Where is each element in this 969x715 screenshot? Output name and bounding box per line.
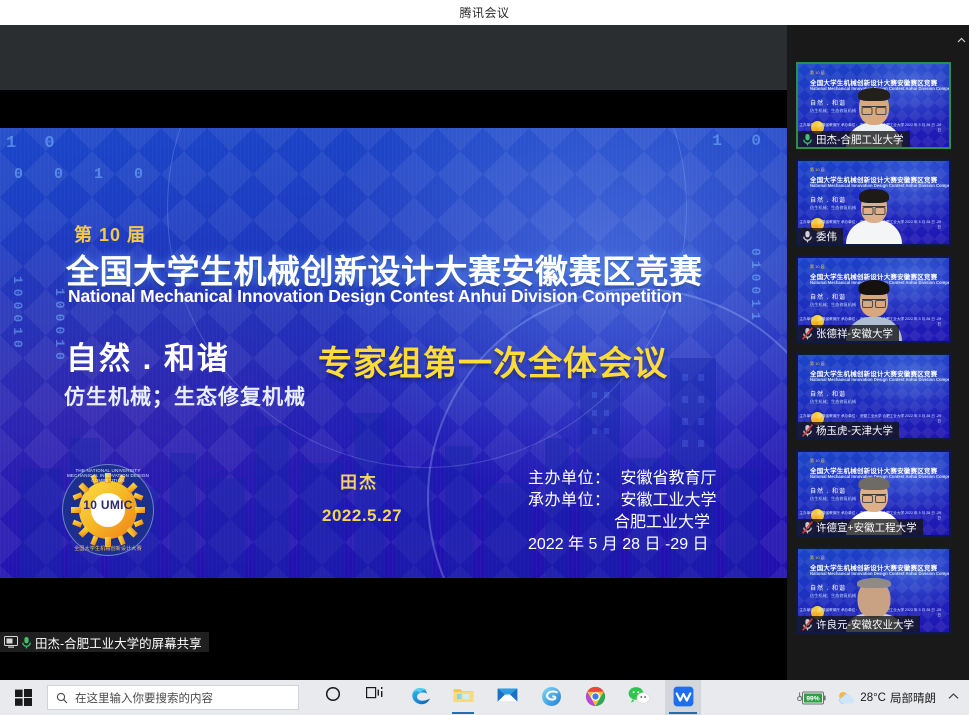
battery-status[interactable]: 99%	[796, 691, 826, 705]
undertaker-value-2: 合肥工业大学	[614, 514, 710, 531]
tile-slogan: 自然 . 和谐	[810, 486, 846, 495]
windows-start-icon	[15, 689, 32, 706]
chevron-up-icon	[948, 692, 959, 701]
folder-icon	[453, 686, 474, 704]
slide-slogan-sub: 仿生机械；生态修复机械	[64, 381, 306, 411]
participant-name-bar: 杨玉虎-天津大学	[798, 422, 899, 438]
participant-name: 许德宣+安徽工程大学	[816, 520, 917, 535]
slide-slogan: 自然 . 和谐	[66, 333, 230, 378]
envelope-icon	[497, 686, 518, 703]
participant-name: 田杰-合肥工业大学	[816, 132, 904, 147]
tile-slogan-sub: 仿生机械；生态修复机械	[810, 496, 856, 502]
undertaker-value: 安徽工业大学	[621, 492, 717, 509]
chevron-up-icon	[957, 36, 966, 45]
event-dates: 2022 年 5 月 28 日 -29 日	[528, 536, 709, 553]
search-input[interactable]: 在这里输入你要搜索的内容	[47, 685, 299, 710]
meeting-window: 1 0 0 0 1 0 100010 100010 1 0 010011 第 1…	[0, 25, 969, 680]
tile-slogan: 自然 . 和谐	[810, 389, 846, 398]
participant-tile-4[interactable]: 第 10 届 全国大学生机械创新设计大赛安徽赛区竞赛 National Mech…	[796, 450, 951, 537]
microphone-muted-icon	[802, 618, 813, 631]
tile-edition: 第 10 届	[810, 458, 825, 464]
mail-icon[interactable]	[489, 680, 525, 715]
cortana-circle-icon	[325, 686, 341, 702]
participant-tile-0[interactable]: 第 10 届 全国大学生机械创新设计大赛安徽赛区竞赛 National Mech…	[796, 62, 951, 149]
tile-edition: 第 10 届	[810, 70, 825, 76]
screen-share-icon	[4, 636, 18, 648]
search-placeholder: 在这里输入你要搜索的内容	[75, 690, 213, 706]
umic-logo: THE NATIONAL UNIVERSITY MECHANICAL INNOV…	[62, 464, 154, 556]
chrome-icon[interactable]	[577, 680, 613, 715]
tile-edition: 第 10 届	[810, 361, 825, 367]
slide-edition: 第 10 届	[74, 221, 146, 247]
logo-text: 10 UMIC	[62, 498, 154, 512]
weather-temperature: 28°C	[860, 692, 886, 704]
slide-title-english: National Mechanical Innovation Design Co…	[68, 286, 682, 307]
microphone-on-icon	[802, 133, 813, 146]
tile-slogan-sub: 仿生机械；生态修复机械	[810, 399, 856, 405]
slide-presenter: 田杰	[340, 468, 378, 493]
tile-edition: 第 10 届	[810, 555, 825, 561]
slide-date: 2022.5.27	[322, 506, 402, 526]
tile-slogan: 自然 . 和谐	[810, 195, 846, 204]
participant-name-bar: 张德祥-安徽大学	[798, 325, 899, 341]
logo-ring-text-bottom: 全国大学生机械创新设计大赛	[62, 545, 154, 552]
presentation-slide: 1 0 0 0 1 0 100010 100010 1 0 010011 第 1…	[0, 128, 787, 578]
tile-slogan-sub: 仿生机械；生态修复机械	[810, 205, 856, 211]
edge-logo	[411, 686, 432, 707]
tile-title-english: National Mechanical Innovation Design Co…	[810, 377, 951, 382]
screen-share-label: 田杰-合肥工业大学的屏幕共享	[35, 633, 202, 652]
participant-tile-3[interactable]: 第 10 届 全国大学生机械创新设计大赛安徽赛区竞赛 National Mech…	[796, 353, 951, 440]
start-button[interactable]	[0, 680, 46, 715]
tile-slogan-sub: 仿生机械；生态修复机械	[810, 108, 856, 114]
tile-slogan-sub: 仿生机械；生态修复机械	[810, 593, 856, 599]
windows-taskbar[interactable]: 在这里输入你要搜索的内容	[0, 680, 969, 715]
screen-share-status: 田杰-合肥工业大学的屏幕共享	[0, 632, 209, 652]
participant-name-bar: 田杰-合肥工业大学	[798, 131, 910, 147]
participant-name: 许良元-安徽农业大学	[816, 617, 914, 632]
tile-edition: 第 10 届	[810, 167, 825, 173]
chrome-logo	[585, 686, 606, 707]
app-title: 腾讯会议	[459, 4, 509, 21]
show-hidden-icons-button[interactable]	[946, 692, 961, 704]
task-view-glyph	[366, 686, 384, 701]
weather-condition: 局部晴朗	[890, 690, 936, 706]
logo-ring-text-top: THE NATIONAL UNIVERSITY MECHANICAL INNOV…	[62, 468, 154, 483]
battery-icon: 99%	[796, 691, 826, 705]
participant-list[interactable]: 第 10 届 全国大学生机械创新设计大赛安徽赛区竞赛 National Mech…	[787, 25, 969, 680]
window-title-bar: 腾讯会议	[0, 0, 969, 25]
microphone-on-icon	[802, 230, 813, 243]
task-view-icon[interactable]	[357, 680, 393, 715]
wechat-icon[interactable]	[621, 680, 657, 715]
microphone-muted-icon	[802, 521, 813, 534]
weather-widget[interactable]: 28°C 局部晴朗	[836, 690, 936, 706]
shared-screen-stage[interactable]: 1 0 0 0 1 0 100010 100010 1 0 010011 第 1…	[0, 25, 787, 655]
participant-name: 张德祥-安徽大学	[816, 326, 893, 341]
file-explorer-icon[interactable]	[445, 680, 481, 715]
shared-screen-top-chrome	[0, 25, 787, 90]
slide-organizer-block: 主办单位：安徽省教育厅 承办单位：安徽工业大学 合肥工业大学 2022 年 5 …	[528, 468, 717, 556]
tile-edition: 第 10 届	[810, 264, 825, 270]
cortana-icon[interactable]	[315, 680, 351, 715]
participant-scroll-up-button[interactable]	[955, 33, 967, 47]
battery-level-text: 99%	[807, 695, 820, 702]
participant-tile-2[interactable]: 第 10 届 全国大学生机械创新设计大赛安徽赛区竞赛 National Mech…	[796, 256, 951, 343]
browser-360-icon[interactable]	[533, 680, 569, 715]
microphone-muted-icon	[802, 327, 813, 340]
microphone-muted-icon	[802, 424, 813, 437]
participant-name-bar: 许德宣+安徽工程大学	[798, 519, 923, 535]
tile-title-english: National Mechanical Innovation Design Co…	[810, 183, 951, 188]
tile-slogan: 自然 . 和谐	[810, 583, 846, 592]
participant-name-bar: 委伟	[798, 228, 843, 244]
microphone-on-icon	[21, 636, 32, 649]
host-value: 安徽省教育厅	[621, 470, 717, 487]
tile-slogan: 自然 . 和谐	[810, 292, 846, 301]
participant-name: 委伟	[816, 229, 837, 244]
participant-tile-1[interactable]: 第 10 届 全国大学生机械创新设计大赛安徽赛区竞赛 National Mech…	[796, 159, 951, 246]
host-label: 主办单位：	[528, 470, 611, 487]
search-icon	[56, 692, 68, 704]
uc-browser-logo	[541, 686, 562, 707]
participant-tile-5[interactable]: 第 10 届 全国大学生机械创新设计大赛安徽赛区竞赛 National Mech…	[796, 547, 951, 634]
microsoft-edge-icon[interactable]	[403, 680, 439, 715]
slide-meeting-banner: 专家组第一次全体会议	[318, 336, 668, 385]
tile-slogan-sub: 仿生机械；生态修复机械	[810, 302, 856, 308]
tencent-meeting-icon[interactable]	[665, 680, 701, 715]
tile-title-english: National Mechanical Innovation Design Co…	[810, 571, 951, 576]
tile-slogan: 自然 . 和谐	[810, 98, 846, 107]
participant-name-bar: 许良元-安徽农业大学	[798, 616, 920, 632]
partly-sunny-icon	[836, 690, 856, 706]
tencent-meeting-logo	[673, 686, 694, 707]
undertaker-label: 承办单位：	[528, 492, 611, 509]
participant-name: 杨玉虎-天津大学	[816, 423, 893, 438]
system-tray[interactable]: 99% 28°C 局部晴朗	[796, 680, 969, 715]
wechat-logo	[628, 686, 650, 705]
